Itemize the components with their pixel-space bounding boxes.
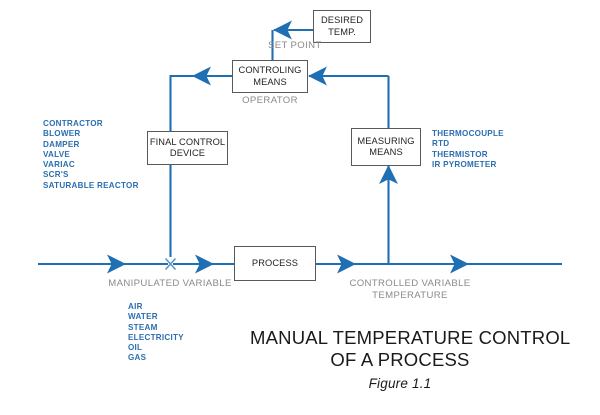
list-item: SATURABLE REACTOR (43, 181, 139, 191)
list-final-control-devices: CONTRACTOR BLOWER DAMPER VALVE VARIAC SC… (43, 119, 139, 191)
list-item: ELECTRICITY (128, 333, 184, 343)
block-controling-means-line2: MEANS (253, 77, 287, 89)
label-controlled-variable-line1: CONTROLLED VARIABLE (330, 278, 490, 290)
label-operator: OPERATOR (232, 95, 308, 107)
block-process-line1: PROCESS (252, 258, 298, 270)
block-measuring-means[interactable]: MEASURING MEANS (351, 128, 421, 166)
list-item: VALVE (43, 150, 139, 160)
list-item: SCR'S (43, 170, 139, 180)
label-manipulated-variable: MANIPULATED VARIABLE (90, 278, 250, 290)
block-controling-means[interactable]: CONTROLING MEANS (232, 60, 308, 93)
list-item: THERMOCOUPLE (432, 129, 504, 139)
block-desired-temp[interactable]: DESIRED TEMP. (313, 10, 371, 43)
figure-title-line2: OF A PROCESS (250, 349, 550, 371)
block-final-control-device-line2: DEVICE (170, 148, 205, 160)
figure-canvas: DESIRED TEMP. CONTROLING MEANS FINAL CON… (0, 0, 600, 415)
block-measuring-means-line1: MEASURING (357, 136, 414, 148)
figure-title: MANUAL TEMPERATURE CONTROL OF A PROCESS … (250, 327, 550, 394)
list-item: THERMISTOR (432, 150, 504, 160)
block-final-control-device[interactable]: FINAL CONTROL DEVICE (147, 131, 228, 165)
list-item: GAS (128, 353, 184, 363)
list-item: VARIAC (43, 160, 139, 170)
block-measuring-means-line2: MEANS (369, 147, 403, 159)
block-desired-temp-line1: DESIRED (321, 15, 363, 27)
label-controlled-variable-line2: TEMPERATURE (330, 290, 490, 302)
list-sensors: THERMOCOUPLE RTD THERMISTOR IR PYROMETER (432, 129, 504, 170)
list-media: AIR WATER STEAM ELECTRICITY OIL GAS (128, 302, 184, 364)
label-controlled-variable: CONTROLLED VARIABLE TEMPERATURE (330, 278, 490, 301)
list-item: DAMPER (43, 140, 139, 150)
label-set-point: SET POINT (268, 40, 348, 52)
block-controling-means-line1: CONTROLING (239, 65, 302, 77)
figure-caption: Figure 1.1 (250, 374, 550, 394)
connector-controller-out-corner (171, 76, 194, 131)
list-item: IR PYROMETER (432, 160, 504, 170)
list-item: OIL (128, 343, 184, 353)
figure-title-line1: MANUAL TEMPERATURE CONTROL (250, 327, 550, 349)
list-item: AIR (128, 302, 184, 312)
list-item: RTD (432, 139, 504, 149)
block-process[interactable]: PROCESS (234, 246, 316, 281)
list-item: CONTRACTOR (43, 119, 139, 129)
list-item: BLOWER (43, 129, 139, 139)
block-desired-temp-line2: TEMP. (328, 27, 356, 39)
block-final-control-device-line1: FINAL CONTROL (150, 137, 225, 149)
list-item: STEAM (128, 323, 184, 333)
list-item: WATER (128, 312, 184, 322)
